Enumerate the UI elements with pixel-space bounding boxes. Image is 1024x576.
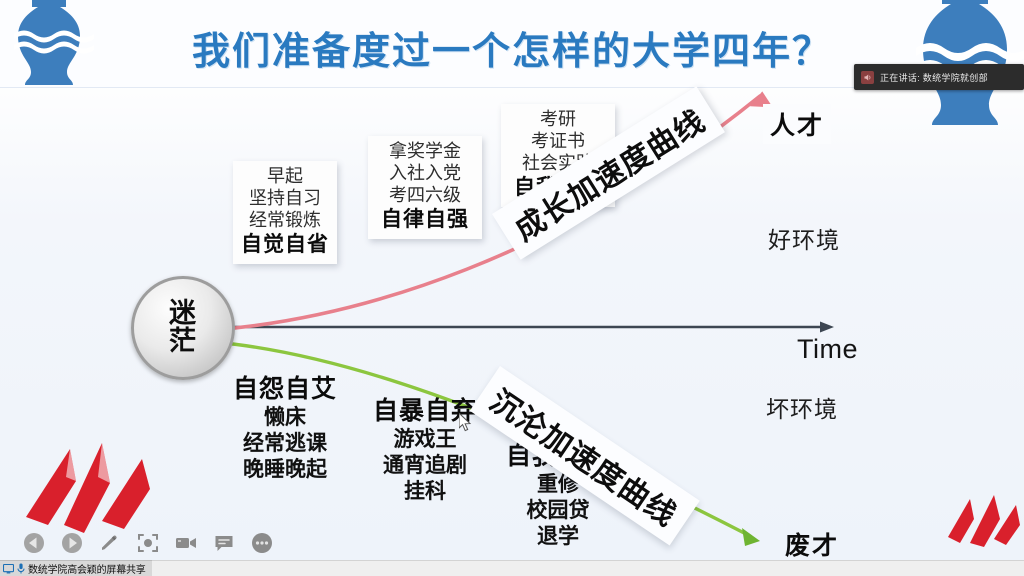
next-slide-button[interactable] (60, 531, 84, 555)
positive-box-2-line-3: 考四六级 (376, 185, 474, 207)
positive-box-3-line-2: 考证书 (509, 131, 607, 153)
monitor-icon (3, 564, 14, 574)
center-node-line-1: 迷 (169, 300, 197, 328)
video-button[interactable] (174, 531, 198, 555)
active-speaker-badge: 正在讲话: 数统学院就创部 (854, 64, 1024, 90)
positive-box-2: 拿奖学金 入社入党 考四六级 自律自强 (368, 136, 482, 239)
positive-box-2-line-1: 拿奖学金 (376, 141, 474, 163)
screen-share-viewport: 我们准备度过一个怎样的大学四年？ 迷 茫 早起 坚持自习 经常锻炼 自觉自省 拿… (0, 0, 1024, 576)
positive-box-1: 早起 坚持自习 经常锻炼 自觉自省 (233, 161, 337, 264)
negative-group-1-title: 自怨自艾 (232, 374, 338, 405)
negative-group-3-line-2: 校园贷 (505, 498, 611, 524)
positive-box-1-line-2: 坚持自习 (241, 188, 329, 210)
annotate-button[interactable] (98, 531, 122, 555)
axis-label-time: Time (797, 334, 858, 365)
speaker-icon (861, 71, 874, 84)
chat-button[interactable] (212, 531, 236, 555)
positive-box-1-line-1: 早起 (241, 166, 329, 188)
screen-share-toolbar (0, 526, 274, 560)
negative-group-3-line-3: 退学 (505, 524, 611, 550)
outcome-label-waste: 废才 (778, 524, 846, 560)
taskbar-background (0, 560, 1024, 576)
share-status-bar: 数统学院高会颖的屏幕共享 (0, 560, 152, 576)
active-speaker-text: 正在讲话: 数统学院就创部 (880, 71, 988, 84)
positive-box-1-line-3: 经常锻炼 (241, 210, 329, 232)
negative-group-1-line-2: 经常逃课 (232, 431, 338, 457)
positive-box-1-title: 自觉自省 (241, 232, 329, 257)
positive-box-2-title: 自律自强 (376, 207, 474, 232)
mouse-cursor (459, 413, 473, 438)
share-status-text: 数统学院高会颖的屏幕共享 (28, 561, 146, 576)
prev-slide-button[interactable] (22, 531, 46, 555)
negative-group-1: 自怨自艾 懒床 经常逃课 晚睡晚起 (232, 374, 338, 483)
outcome-label-talent: 人才 (763, 104, 831, 144)
positive-box-2-line-2: 入社入党 (376, 163, 474, 185)
center-node-confusion: 迷 茫 (131, 276, 235, 380)
center-node-line-2: 茫 (169, 328, 197, 356)
focus-button[interactable] (136, 531, 160, 555)
environment-label-good: 好环境 (768, 221, 840, 255)
negative-group-2-line-2: 通宵追剧 (372, 453, 478, 479)
positive-box-3-line-1: 考研 (509, 109, 607, 131)
environment-label-bad: 坏环境 (766, 390, 838, 424)
negative-group-1-line-3: 晚睡晚起 (232, 457, 338, 483)
more-button[interactable] (250, 531, 274, 555)
negative-group-2-line-3: 挂科 (372, 479, 478, 505)
negative-group-1-line-1: 懒床 (232, 405, 338, 431)
microphone-icon (17, 563, 25, 574)
